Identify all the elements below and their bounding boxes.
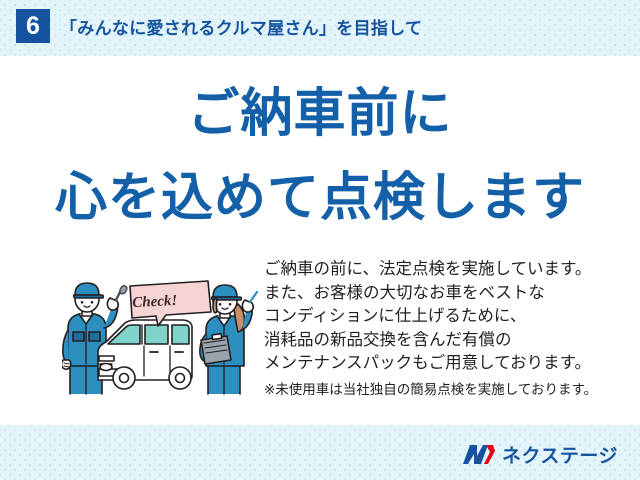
header-title: 「みんなに愛されるクルマ屋さん」を目指して xyxy=(60,14,422,39)
promo-banner: 6 「みんなに愛されるクルマ屋さん」を目指して ご納車前に 心を込めて点検します xyxy=(0,0,640,480)
brand-logo: ネクステージ xyxy=(462,441,618,468)
nextage-n-mark xyxy=(462,443,496,467)
copy-line: また、お客様の大切なお車をベストな xyxy=(264,282,624,306)
copy-line: メンテナンスパックもご用意しております。 xyxy=(264,352,624,376)
copy-line: ご納車の前に、法定点検を実施しています。 xyxy=(264,258,624,282)
headline-line-2: 心を込めて点検します xyxy=(0,172,640,224)
white-kei-van xyxy=(98,320,192,389)
speech-bubble-label: Check! xyxy=(132,293,178,311)
headline-line-1: ご納車前に xyxy=(0,88,640,140)
brand-name: ネクステージ xyxy=(502,441,618,468)
copy-note: ※未使用車は当社独自の簡易点検を実施しております。 xyxy=(264,379,624,401)
copy-line: 消耗品の新品交換を含んだ有償の xyxy=(264,329,624,353)
copy-line: コンディションに仕上げるために、 xyxy=(264,305,624,329)
header-content: 6 「みんなに愛されるクルマ屋さん」を目指して xyxy=(16,9,422,43)
section-number-badge: 6 xyxy=(16,9,50,43)
body-copy-block: ご納車の前に、法定点検を実施しています。 また、お客様の大切なお車をベストな コ… xyxy=(264,258,624,401)
mechanics-illustration: Check! xyxy=(62,268,262,403)
